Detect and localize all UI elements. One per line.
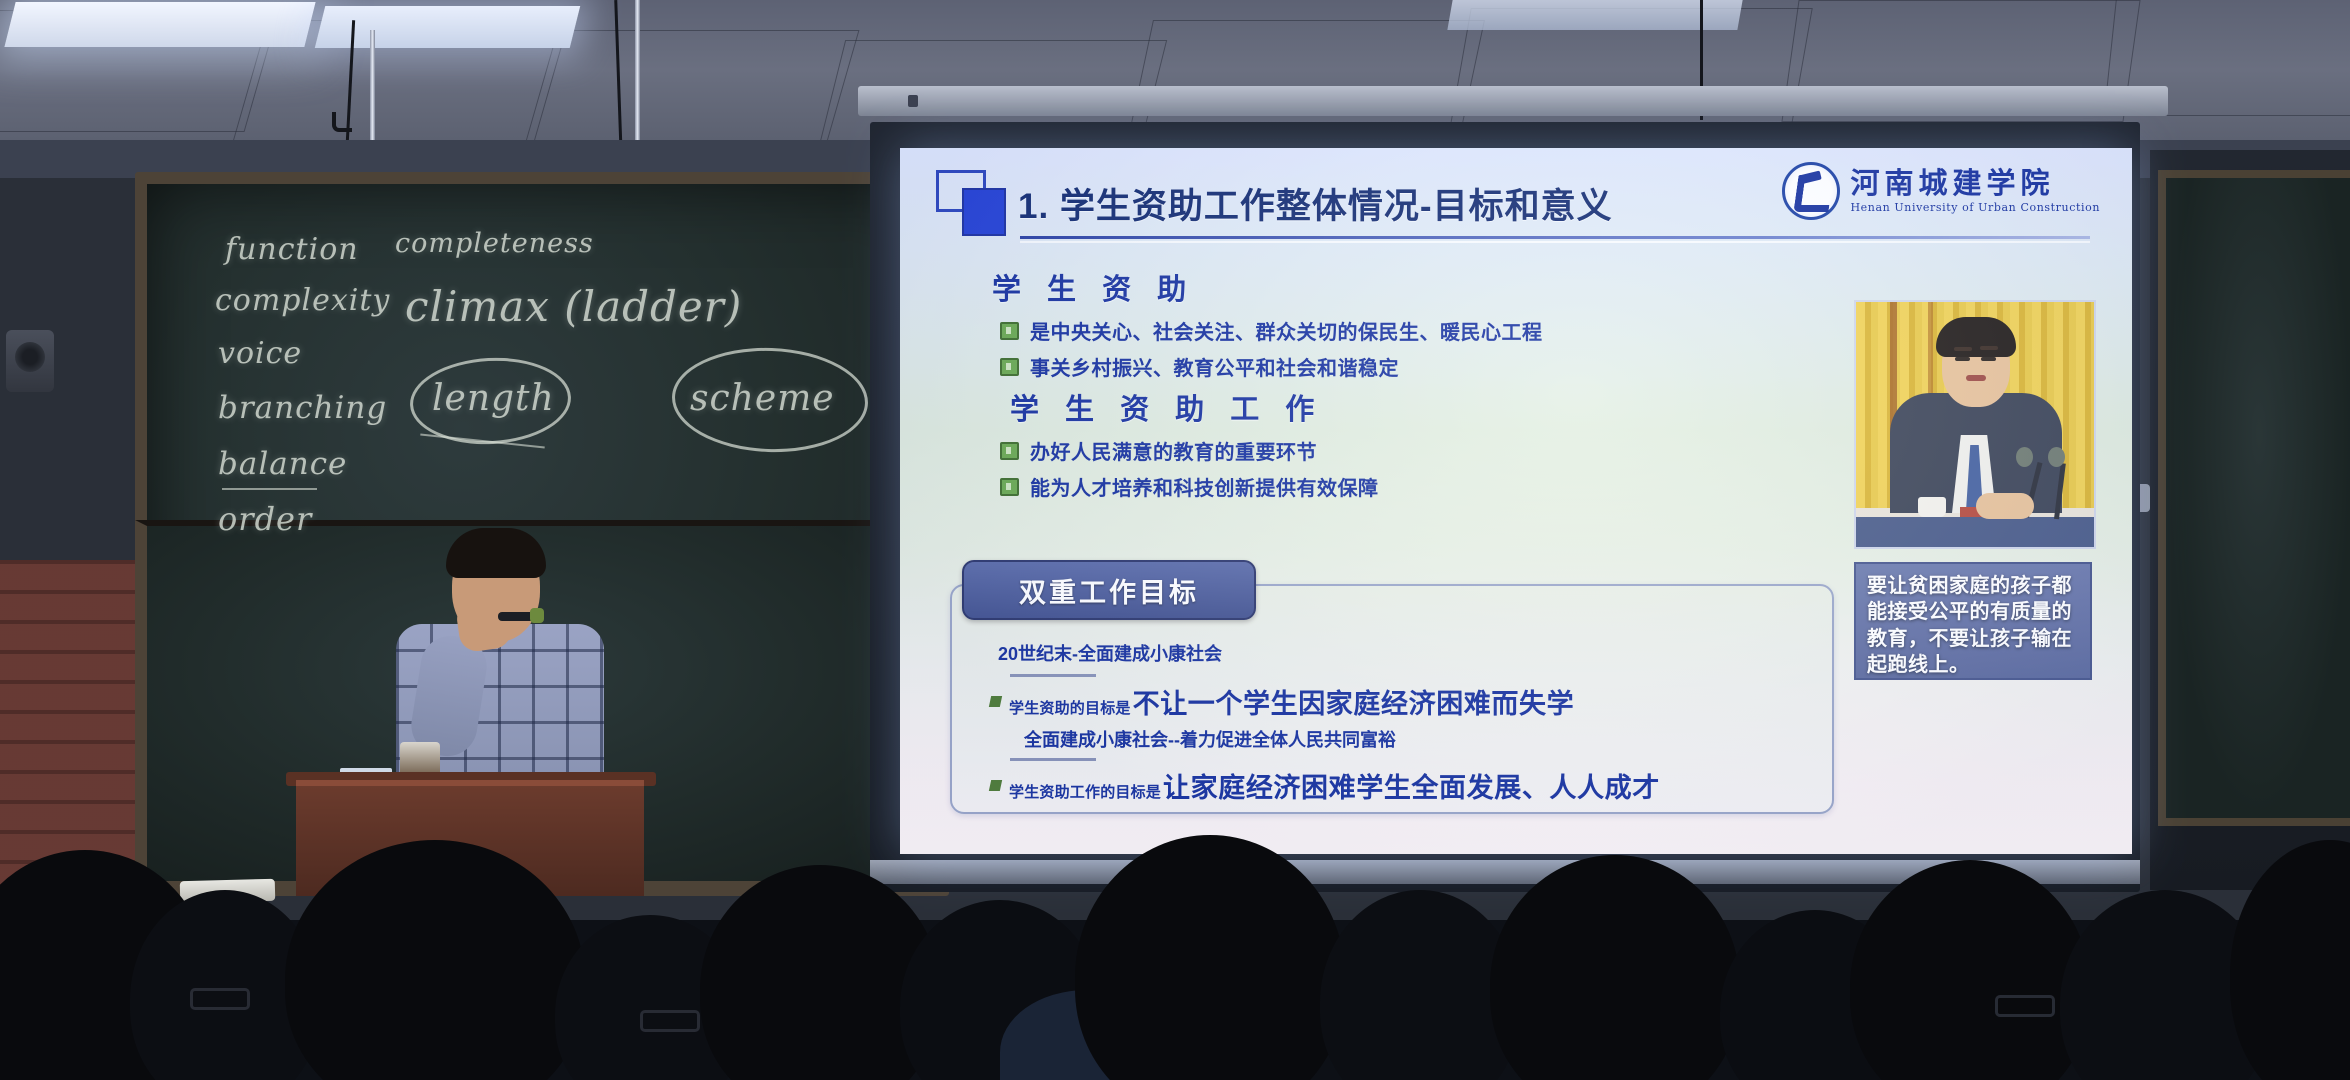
bullet-square-icon xyxy=(1000,478,1019,496)
speaker-cone-icon xyxy=(15,342,45,372)
lecture-hall-scene: function complexity voice branching bala… xyxy=(0,0,2350,1080)
bullet-square-icon xyxy=(1000,322,1019,340)
goal-statement-1: 不让一个学生因家庭经济困难而失学 xyxy=(1133,682,1575,721)
bullet-text: 能为人才培养和科技创新提供有效保障 xyxy=(1030,472,1379,501)
bullet-text: 事关乡村振兴、教育公平和社会和谐稳定 xyxy=(1030,352,1399,381)
logo-name-cn: 河南城建学院 xyxy=(1850,169,2100,198)
screen-roller-housing xyxy=(858,86,2168,116)
chalk-word-voice: voice xyxy=(218,336,302,371)
ceiling-rod-mid xyxy=(635,0,640,150)
goal-era-2: 全面建成小康社会--着力促进全体人民共同富裕 xyxy=(1024,726,1396,752)
goal-statement-row-1: 学生资助的目标是 不让一个学生因家庭经济困难而失学 xyxy=(990,682,1574,721)
audience xyxy=(0,830,2350,1080)
chalk-word-balance: balance xyxy=(218,446,347,482)
section-2-heading: 学 生 资 助 工 作 xyxy=(1010,386,1323,428)
university-emblem-icon xyxy=(1782,162,1840,220)
photo-caption-quote: 要让贫困家庭的孩子都能接受公平的有质量的教育，不要让孩子输在起跑线上。 xyxy=(1854,562,2092,680)
ceiling-hook-left xyxy=(332,112,352,132)
presentation-slide: 1. 学生资助工作整体情况-目标和意义 河南城建学院 Henan Univers… xyxy=(900,148,2132,854)
bullet-text: 是中央关心、社会关注、群众关切的保民生、暖民心工程 xyxy=(1030,316,1543,345)
section-1-bullet-2: 事关乡村振兴、教育公平和社会和谐稳定 xyxy=(1000,352,1399,381)
goal-marker-icon xyxy=(989,696,1002,707)
housing-dot-icon xyxy=(908,95,918,107)
title-divider xyxy=(1020,236,2090,239)
title-divider-highlight xyxy=(1020,241,2090,243)
goal-badge: 双重工作目标 xyxy=(962,560,1256,620)
chalk-word-complexity: complexity xyxy=(215,283,390,318)
logo-name-en: Henan University of Urban Construction xyxy=(1850,201,2100,214)
bullet-square-icon xyxy=(1000,442,1019,460)
chalk-word-branching: branching xyxy=(218,390,387,426)
section-2-bullet-1: 办好人民满意的教育的重要环节 xyxy=(1000,436,1317,465)
goal-label-1: 学生资助的目标是 xyxy=(1009,697,1131,718)
slide-title: 1. 学生资助工作整体情况-目标和意义 xyxy=(1018,178,1613,229)
chalk-word-order: order xyxy=(218,500,312,538)
section-1-bullet-1: 是中央关心、社会关注、群众关切的保民生、暖民心工程 xyxy=(1000,316,1543,345)
wall-speaker xyxy=(6,330,54,392)
university-logo: 河南城建学院 Henan University of Urban Constru… xyxy=(1782,162,2100,220)
presenter-hair xyxy=(446,528,546,578)
goal-era-1: 20世纪末-全面建成小康社会 xyxy=(998,640,1222,666)
title-decor-square-filled xyxy=(962,188,1006,236)
slide-photo xyxy=(1854,300,2096,549)
goal-statement-row-2: 学生资助工作的目标是 让家庭经济困难学生全面发展、人人成才 xyxy=(990,766,1660,805)
chalk-word-completeness: completeness xyxy=(395,228,594,259)
goal-label-2: 学生资助工作的目标是 xyxy=(1009,781,1161,802)
goal-card: 双重工作目标 20世纪末-全面建成小康社会 学生资助的目标是 不让一个学生因家庭… xyxy=(950,584,1834,814)
bullet-square-icon xyxy=(1000,358,1019,376)
goal-statement-2: 让家庭经济困难学生全面发展、人人成才 xyxy=(1163,766,1660,805)
goal-marker-icon xyxy=(989,780,1002,791)
chalk-word-function: function xyxy=(225,232,359,267)
ceiling-light-panel xyxy=(4,2,315,47)
section-1-heading: 学 生 资 助 xyxy=(992,266,1195,308)
ceiling-light-panel-3 xyxy=(1447,0,1742,30)
chalk-word-climax: climax (ladder) xyxy=(405,282,742,331)
presenter-microphone-tip xyxy=(530,608,544,623)
photo-cup xyxy=(1918,497,1946,517)
bullet-text: 办好人民满意的教育的重要环节 xyxy=(1030,436,1317,465)
right-blackboard xyxy=(2158,170,2350,826)
section-2-bullet-2: 能为人才培养和科技创新提供有效保障 xyxy=(1000,472,1379,501)
